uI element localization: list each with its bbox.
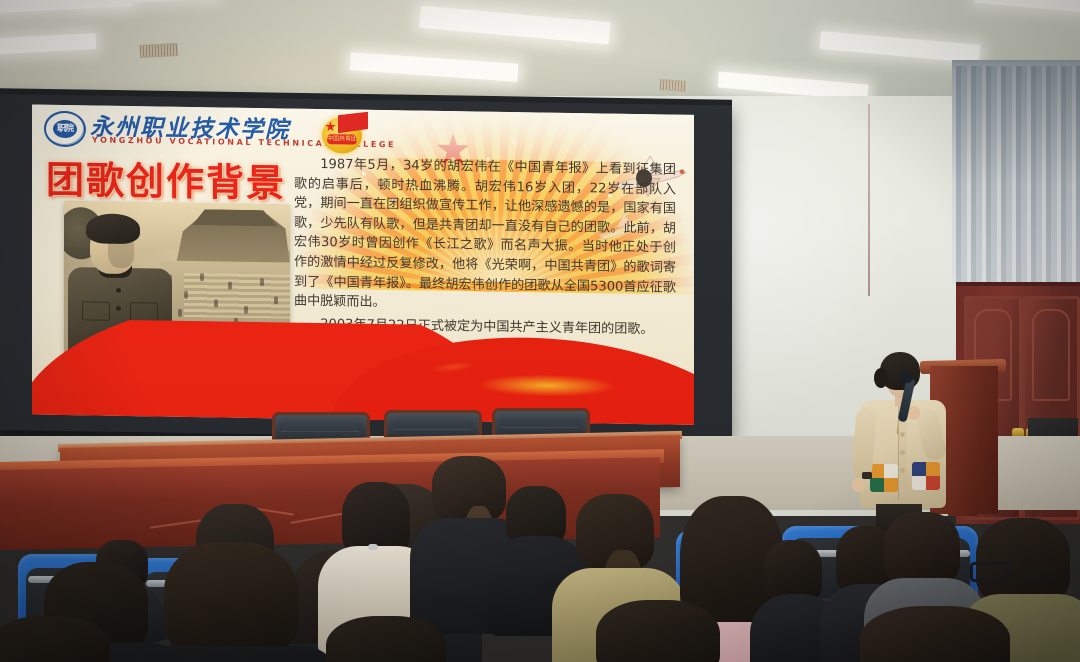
air-vent — [140, 43, 179, 58]
curtain-shading — [952, 66, 1080, 284]
presenter-hand-right — [908, 406, 920, 420]
slide-paragraph-1: 1987年5月，34岁的胡宏伟在《中国青年报》上看到征集团歌的启事后，顿时热血沸… — [294, 155, 676, 318]
slide-body-text: 1987年5月，34岁的胡宏伟在《中国青年报》上看到征集团歌的启事后，顿时热血沸… — [294, 155, 676, 343]
audience-collar — [368, 544, 378, 550]
youth-league-badge-icon: 中国共青团 — [322, 111, 368, 156]
door-panel — [1032, 309, 1070, 401]
presenter-hair-tuck — [874, 368, 888, 388]
ceiling — [0, 0, 1080, 104]
audience-hair — [884, 512, 960, 586]
audience-hair — [326, 616, 446, 662]
photo-man-pocket — [82, 301, 110, 320]
audience-seating — [0, 430, 1080, 662]
projector-screen-frame: 职院 永州职业技术学院 YONGZHOU VOCATIONAL TECHNICA… — [0, 94, 732, 441]
slide-title: 团歌创作背景 — [46, 149, 286, 208]
photo-man-button — [116, 306, 121, 311]
photo-crowd — [164, 265, 290, 327]
audience-hair — [860, 606, 1010, 662]
audience-shoulders — [122, 646, 342, 662]
slide-red-ribbon-decoration — [32, 319, 694, 425]
orange-highlight — [452, 369, 642, 402]
photo-man-pocket — [130, 302, 158, 321]
chair-seam — [501, 427, 579, 428]
photo-man-button — [116, 288, 121, 293]
eyeglasses-icon — [970, 562, 1010, 582]
audience-hair — [164, 542, 298, 658]
lecture-hall-photo: 职院 永州职业技术学院 YONGZHOU VOCATIONAL TECHNICA… — [0, 0, 1080, 662]
air-vent — [660, 79, 687, 92]
presentation-slide[interactable]: 职院 永州职业技术学院 YONGZHOU VOCATIONAL TECHNICA… — [32, 105, 694, 425]
college-logo-ring — [44, 111, 84, 146]
audience-hair — [0, 616, 110, 662]
audience-hair — [976, 518, 1070, 604]
hanging-cord — [868, 104, 870, 296]
photo-man-hair — [86, 213, 140, 244]
badge-flag — [338, 111, 368, 133]
audience-hair — [596, 600, 720, 662]
badge-band-label: 中国共青团 — [327, 134, 357, 144]
